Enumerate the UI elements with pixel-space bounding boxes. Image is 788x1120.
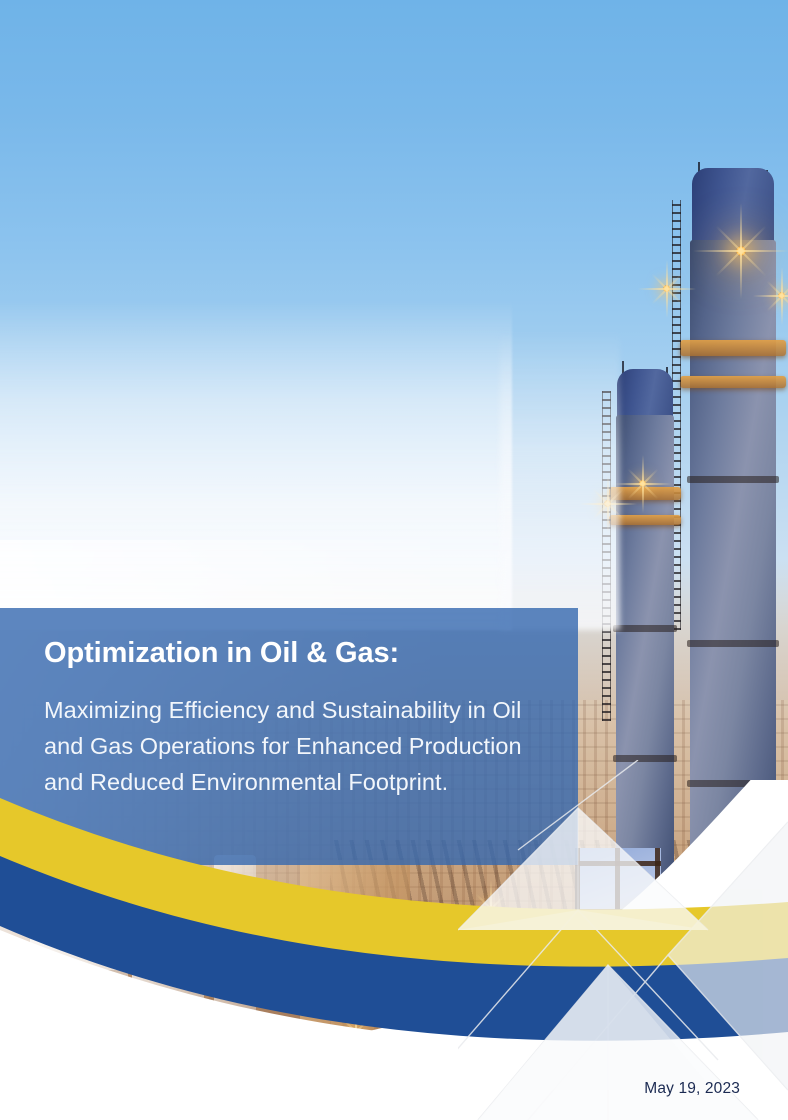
tower-lamp — [639, 480, 646, 487]
tower-band — [687, 780, 779, 787]
cover-page: Optimization in Oil & Gas: Maximizing Ef… — [0, 0, 788, 1120]
ground-lamp — [487, 905, 494, 912]
page-title: Optimization in Oil & Gas: — [44, 638, 534, 670]
page-subtitle: Maximizing Efficiency and Sustainability… — [44, 692, 534, 800]
upper-left-haze-panel — [0, 300, 512, 630]
distillation-tower-primary — [690, 240, 776, 880]
tower-band — [687, 476, 779, 483]
tower-lamp — [663, 285, 670, 292]
cover-date: May 19, 2023 — [644, 1080, 740, 1098]
tower-band — [613, 755, 677, 762]
tower-platform — [680, 340, 787, 356]
tower-band — [613, 625, 677, 632]
cover-photo — [0, 0, 788, 1120]
tower-platform — [680, 376, 787, 388]
title-band: Optimization in Oil & Gas: Maximizing Ef… — [0, 608, 578, 865]
tower-lamp — [778, 292, 785, 299]
tower-lamp — [736, 246, 746, 256]
structure-grating — [575, 848, 661, 1058]
ground-lamp — [352, 1028, 359, 1035]
tower-band — [687, 640, 779, 647]
upper-right-haze-panel — [500, 330, 620, 630]
